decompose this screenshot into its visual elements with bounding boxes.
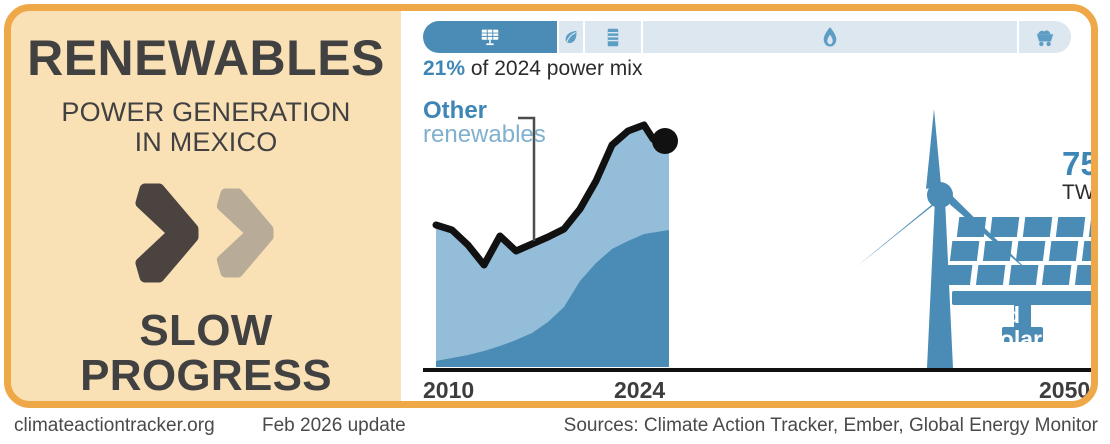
mix-segment-gas[interactable] [643,21,1019,53]
coal-cart-icon [1033,27,1057,47]
oil-barrel-icon [605,27,621,48]
x-tick-2050: 2050 [1039,377,1090,404]
label-other-line-1: Other [423,99,546,123]
verdict-text: SLOW PROGRESS [80,309,332,399]
left-title-panel: RENEWABLES POWER GENERATION IN MEXICO SL… [11,11,401,401]
verdict-line-1: SLOW [139,306,272,355]
leaf-icon [562,27,580,47]
chart-panel: 21% of 2024 power mix [401,11,1091,401]
x-tick-2010: 2010 [423,377,474,404]
footer-sources: Sources: Climate Action Tracker, Ember, … [564,415,1098,437]
value-number: 75 [1062,147,1098,180]
subtitle-line-2: IN MEXICO [135,127,278,157]
value-unit: TWh [1062,182,1098,203]
chevron-dark-icon [129,183,209,283]
power-mix-percent: 21% [423,57,465,80]
mix-segment-bioenergy[interactable] [559,21,585,53]
x-tick-2024: 2024 [614,377,665,404]
page-subtitle: POWER GENERATION IN MEXICO [61,97,350,157]
value-callout: 75 TWh [1062,147,1098,203]
solar-panel-icon [479,26,501,48]
power-mix-caption: 21% of 2024 power mix [423,57,642,81]
subtitle-line-1: POWER GENERATION [61,97,350,127]
power-mix-bar [423,21,1071,53]
progress-chevrons [129,183,283,283]
verdict-line-2: PROGRESS [80,351,332,400]
infographic-card: RENEWABLES POWER GENERATION IN MEXICO SL… [4,4,1098,408]
power-mix-caption-rest: of 2024 power mix [465,57,642,80]
footer: climateactiontracker.org Feb 2026 update… [0,412,1110,444]
mix-segment-coal[interactable] [1019,21,1071,53]
label-wind-solar: Wind & solar [964,303,1042,352]
label-other-renewables: Other renewables [423,99,546,146]
label-wind-line-2: & solar [964,326,1042,352]
chevron-light-icon [211,183,283,283]
page-title: RENEWABLES [27,33,385,83]
value-marker-dot [652,128,678,154]
mix-segment-renewables[interactable] [423,21,559,53]
footer-website[interactable]: climateactiontracker.org [14,415,215,437]
mix-segment-oil[interactable] [585,21,643,53]
footer-update-date: Feb 2026 update [262,415,406,437]
flame-icon [821,26,839,48]
label-other-line-2: renewables [423,123,546,147]
label-wind-line-1: Wind [964,302,1020,328]
